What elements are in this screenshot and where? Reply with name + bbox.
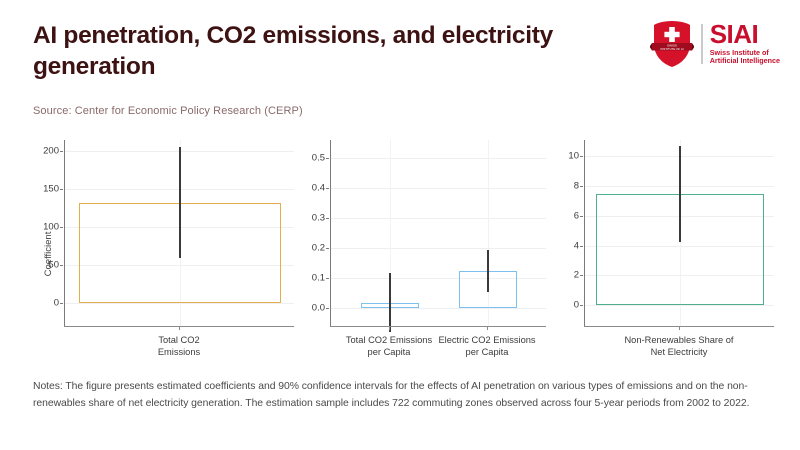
- y-axis-tick-mark: [60, 265, 63, 266]
- y-axis-tick-label: 10: [568, 151, 579, 162]
- swiss-shield-icon: SWISS INSTITUTE OF AI: [650, 20, 694, 68]
- y-axis-tick-label: 0.0: [312, 303, 325, 314]
- y-axis-tick-mark: [326, 278, 329, 279]
- y-axis-tick-mark: [326, 218, 329, 219]
- y-axis-tick-label: 50: [48, 260, 59, 271]
- logo-text-block: SIAI Swiss Institute of Artificial Intel…: [710, 22, 780, 66]
- y-axis-tick-label: 0.5: [312, 153, 325, 164]
- confidence-interval-bar: [179, 147, 181, 259]
- y-axis-tick-mark: [580, 216, 583, 217]
- y-axis-tick-label: 0.4: [312, 183, 325, 194]
- y-axis-tick-label: 100: [43, 222, 59, 233]
- gridline: [331, 188, 546, 189]
- chart-panel-total-co2-emissions: Coefficient050100150200Total CO2 Emissio…: [24, 140, 296, 368]
- plot-area: [584, 140, 774, 326]
- chart-panel-per-capita-emissions: 0.00.10.20.30.40.5Total CO2 Emissions pe…: [296, 140, 552, 368]
- y-axis-tick-label: 0.3: [312, 213, 325, 224]
- confidence-interval-bar: [389, 273, 391, 332]
- y-axis-tick-label: 8: [574, 181, 579, 192]
- y-axis-tick-label: 0.2: [312, 243, 325, 254]
- x-axis-line: [330, 326, 546, 327]
- y-axis-tick-label: 6: [574, 210, 579, 221]
- x-axis-category-label: Electric CO2 Emissions per Capita: [418, 335, 556, 358]
- logo-subtitle-line2: Artificial Intelligence: [710, 57, 780, 66]
- y-axis-ticks: 0.00.10.20.30.40.5: [296, 140, 325, 326]
- logo-subtitle: Swiss Institute of Artificial Intelligen…: [710, 49, 780, 67]
- source-caption: Source: Center for Economic Policy Resea…: [33, 105, 303, 117]
- y-axis-tick-mark: [580, 275, 583, 276]
- figure-notes: Notes: The figure presents estimated coe…: [33, 379, 771, 413]
- y-axis-tick-label: 200: [43, 146, 59, 157]
- logo-acronym: SIAI: [710, 22, 780, 47]
- plot-area: [64, 140, 294, 326]
- x-axis-category-label: Non-Renewables Share of Net Electricity: [574, 335, 784, 358]
- y-axis-tick-mark: [580, 186, 583, 187]
- y-axis-tick-label: 4: [574, 240, 579, 251]
- page-title: AI penetration, CO2 emissions, and elect…: [33, 20, 613, 83]
- gridline: [331, 248, 546, 249]
- chart-panel-non-renewables-share: 0246810Non-Renewables Share of Net Elect…: [552, 140, 780, 368]
- y-axis-tick-mark: [326, 188, 329, 189]
- siai-logo: SWISS INSTITUTE OF AI SIAI Swiss Institu…: [620, 18, 780, 70]
- y-axis-tick-label: 0: [54, 298, 59, 309]
- plot-area: [330, 140, 546, 326]
- y-axis-tick-mark: [60, 189, 63, 190]
- gridline: [331, 218, 546, 219]
- y-axis-tick-mark: [580, 156, 583, 157]
- y-axis-tick-mark: [60, 227, 63, 228]
- y-axis-ticks: 0246810: [552, 140, 579, 326]
- y-axis-tick-mark: [580, 305, 583, 306]
- slide-root: AI penetration, CO2 emissions, and elect…: [0, 0, 800, 450]
- y-axis-tick-mark: [60, 151, 63, 152]
- svg-text:INSTITUTE OF AI: INSTITUTE OF AI: [660, 47, 683, 51]
- x-axis-line: [64, 326, 294, 327]
- y-axis-ticks: 050100150200: [24, 140, 59, 326]
- y-axis-tick-label: 2: [574, 270, 579, 281]
- gridline: [331, 158, 546, 159]
- y-axis-tick-label: 0.1: [312, 273, 325, 284]
- x-axis-category-label: Total CO2 Emissions: [56, 335, 302, 358]
- y-axis-tick-label: 150: [43, 184, 59, 195]
- chart-panels: Coefficient050100150200Total CO2 Emissio…: [24, 140, 780, 368]
- y-axis-tick-mark: [326, 158, 329, 159]
- y-axis-tick-mark: [326, 248, 329, 249]
- y-axis-tick-label: 0: [574, 300, 579, 311]
- x-axis-line: [584, 326, 774, 327]
- confidence-interval-bar: [487, 250, 489, 292]
- confidence-interval-bar: [679, 146, 681, 242]
- y-axis-tick-mark: [60, 303, 63, 304]
- y-axis-tick-mark: [580, 246, 583, 247]
- y-axis-tick-mark: [326, 308, 329, 309]
- gridline: [331, 308, 546, 309]
- logo-divider: [701, 24, 703, 64]
